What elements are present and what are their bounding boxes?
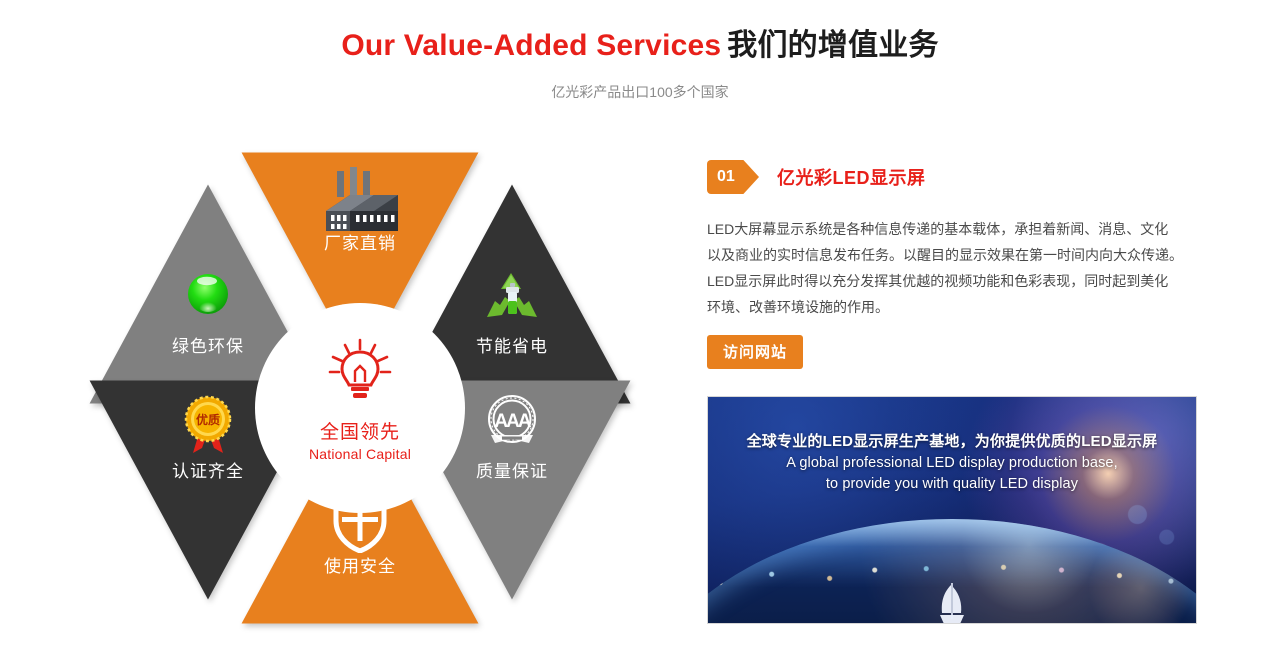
banner-line-english-2: to provide you with quality LED display — [708, 474, 1196, 495]
feature-description-line-3: LED显示屏此时得以充分发挥其优越的视频功能和色彩表现，同时起到美化 — [707, 268, 1199, 294]
page-subtitle: 亿光彩产品出口100多个国家 — [0, 66, 1280, 102]
aaa-seal-icon: AAA — [477, 393, 547, 456]
visit-website-button[interactable]: 访问网站 — [707, 335, 803, 369]
sailing-ship-icon — [926, 579, 978, 624]
feature-description-line-4: 环境、改善环境设施的作用。 — [707, 294, 1199, 320]
feature-description: LED大屏幕显示系统是各种信息传递的基本载体，承担着新闻、消息、文化 以及商业的… — [707, 216, 1199, 320]
banner-line-chinese: 全球专业的LED显示屏生产基地，为你提供优质的LED显示屏 — [708, 431, 1196, 453]
page-title-chinese: 我们的增值业务 — [721, 29, 938, 62]
feature-number-badge: 01 — [707, 160, 759, 194]
banner-line-english-1: A global professional LED display produc… — [708, 453, 1196, 474]
lightbulb-icon — [325, 338, 395, 409]
page-title: Our Value-Added Services我们的增值业务 — [0, 0, 1280, 66]
hub-title-english: National Capital — [309, 446, 411, 462]
feature-title: 亿光彩LED显示屏 — [777, 164, 926, 190]
hexagon-center-hub: 全国领先 National Capital — [260, 308, 460, 508]
hub-title-chinese: 全国领先 — [320, 417, 400, 444]
globe-horizon-graphic — [707, 519, 1197, 624]
feature-description-line-2: 以及商业的实时信息发布任务。以醒目的显示效果在第一时间内向大众传递。 — [707, 242, 1199, 268]
green-sphere-icon — [185, 271, 231, 322]
feature-panel: 01 亿光彩LED显示屏 LED大屏幕显示系统是各种信息传递的基本载体，承担着新… — [707, 160, 1199, 369]
led-display-banner[interactable]: 全球专业的LED显示屏生产基地，为你提供优质的LED显示屏 A global p… — [707, 396, 1197, 624]
seal-text: AAA — [494, 411, 531, 432]
banner-caption: 全球专业的LED显示屏生产基地，为你提供优质的LED显示屏 A global p… — [708, 431, 1196, 495]
value-hexagon-diagram: 绿色环保 — [80, 143, 640, 633]
feature-description-line-1: LED大屏幕显示系统是各种信息传递的基本载体，承担着新闻、消息、文化 — [707, 216, 1199, 242]
page-header: Our Value-Added Services我们的增值业务 亿光彩产品出口1… — [0, 0, 1280, 102]
quality-medal-icon: 优质 — [179, 393, 237, 460]
page-title-english: Our Value-Added Services — [341, 29, 721, 62]
medal-text: 优质 — [196, 412, 220, 427]
recycle-battery-icon — [481, 271, 543, 334]
feature-heading-row: 01 亿光彩LED显示屏 — [707, 160, 1199, 194]
